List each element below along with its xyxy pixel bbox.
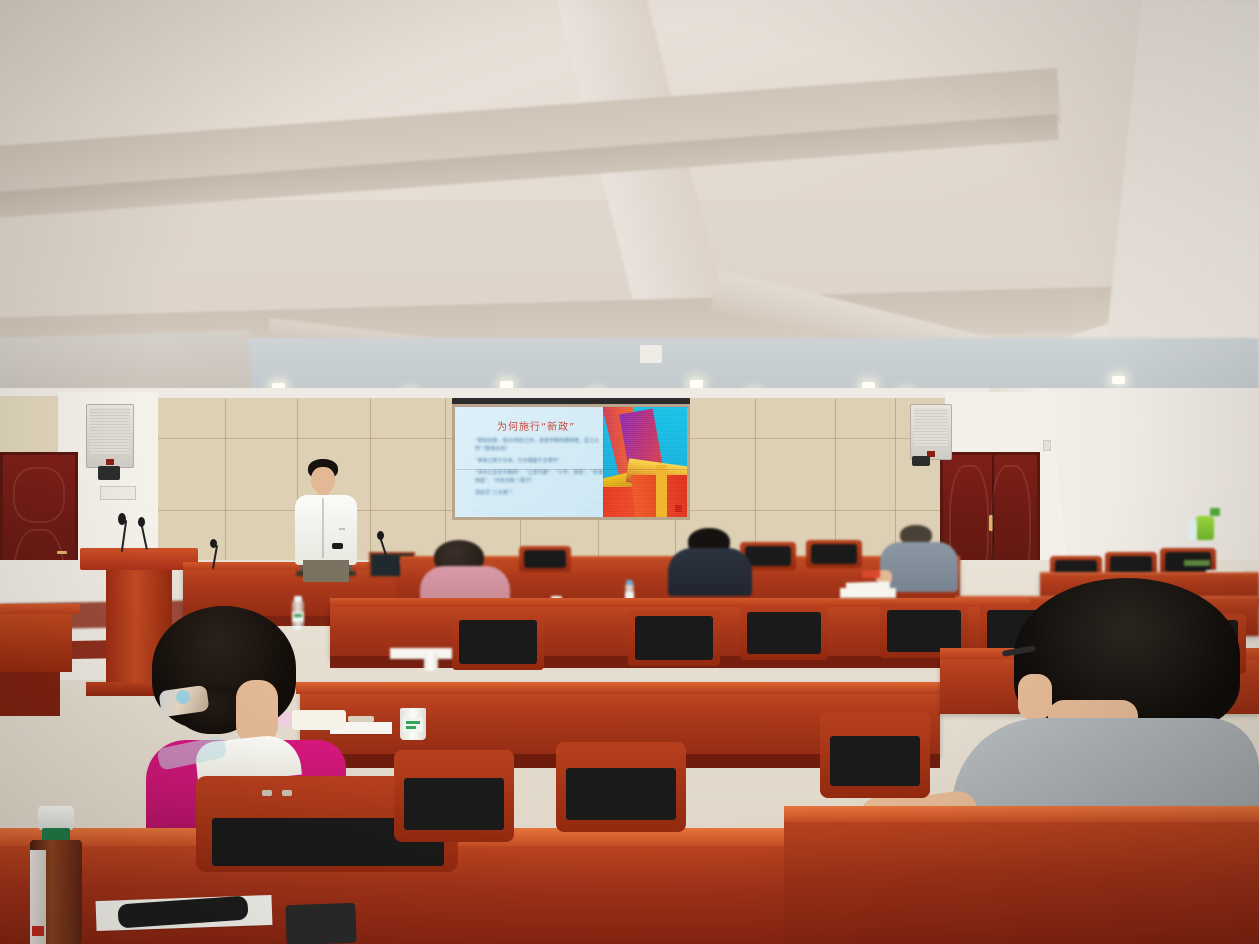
paper-cup[interactable] bbox=[400, 708, 426, 740]
microphone-head bbox=[138, 517, 145, 527]
lectern-top bbox=[80, 548, 198, 570]
chair[interactable] bbox=[820, 712, 930, 798]
lecture-room-photo: 为何施行“新政” “原拟创家，如20世纪之中，发其专制时期体者，足之公然”（慈禧… bbox=[0, 0, 1259, 944]
paper-cup[interactable] bbox=[424, 654, 438, 671]
projection-screen[interactable]: 为何施行“新政” “原拟创家，如20世纪之中，发其专制时期体者，足之公然”（慈禧… bbox=[455, 407, 687, 517]
desk-left-edge bbox=[0, 612, 72, 672]
green-notebook bbox=[1184, 560, 1210, 566]
wall-speaker-left bbox=[86, 404, 134, 468]
amber-beverage-bottle[interactable] bbox=[28, 806, 84, 944]
microphone-head bbox=[210, 539, 217, 548]
attendee-neck bbox=[236, 680, 278, 744]
downlight bbox=[690, 380, 703, 388]
wall-speaker-right bbox=[910, 404, 952, 460]
presentation-clicker[interactable] bbox=[332, 543, 343, 549]
chair[interactable] bbox=[740, 606, 828, 660]
notepaper bbox=[390, 648, 452, 659]
water-bottle[interactable] bbox=[1188, 520, 1197, 540]
speaker-bracket-left bbox=[98, 466, 120, 480]
red-book bbox=[862, 570, 880, 578]
desk-row-4-top bbox=[296, 682, 944, 694]
hair-clip-bead bbox=[176, 690, 190, 704]
chair[interactable] bbox=[806, 540, 862, 568]
ceiling-soffit-left bbox=[0, 330, 251, 397]
microphone-head bbox=[377, 531, 384, 540]
water-bottle[interactable] bbox=[292, 596, 304, 630]
green-thermos[interactable] bbox=[1196, 516, 1214, 540]
desk-left-shadow bbox=[0, 672, 60, 716]
chair[interactable] bbox=[628, 610, 720, 666]
ceiling-sensor bbox=[640, 345, 662, 363]
microphone-head bbox=[118, 513, 126, 525]
attendee-ear bbox=[1018, 674, 1052, 720]
attendee-shirt bbox=[668, 548, 752, 596]
presenter-shirt bbox=[295, 495, 357, 565]
chair[interactable] bbox=[452, 614, 544, 670]
smartphone[interactable] bbox=[285, 903, 356, 944]
chair[interactable] bbox=[556, 742, 686, 832]
thermos-cap bbox=[1210, 508, 1220, 516]
pencil bbox=[348, 716, 374, 722]
notepaper bbox=[292, 710, 346, 730]
desk-left-edge-top bbox=[0, 604, 80, 614]
desk-front-right bbox=[784, 822, 1259, 944]
chair[interactable] bbox=[394, 750, 514, 842]
chair[interactable] bbox=[519, 546, 571, 572]
wall-plate-left bbox=[100, 486, 136, 500]
presenter-trousers bbox=[303, 560, 349, 582]
wall-switch bbox=[1043, 440, 1051, 451]
notepaper bbox=[840, 588, 896, 598]
presenter-shirt-pocket bbox=[339, 528, 345, 530]
presenter-shirt-placket bbox=[322, 498, 324, 558]
downlight bbox=[1112, 376, 1125, 384]
attendee-shirt bbox=[880, 542, 958, 592]
speaker-bracket-right bbox=[912, 456, 930, 466]
